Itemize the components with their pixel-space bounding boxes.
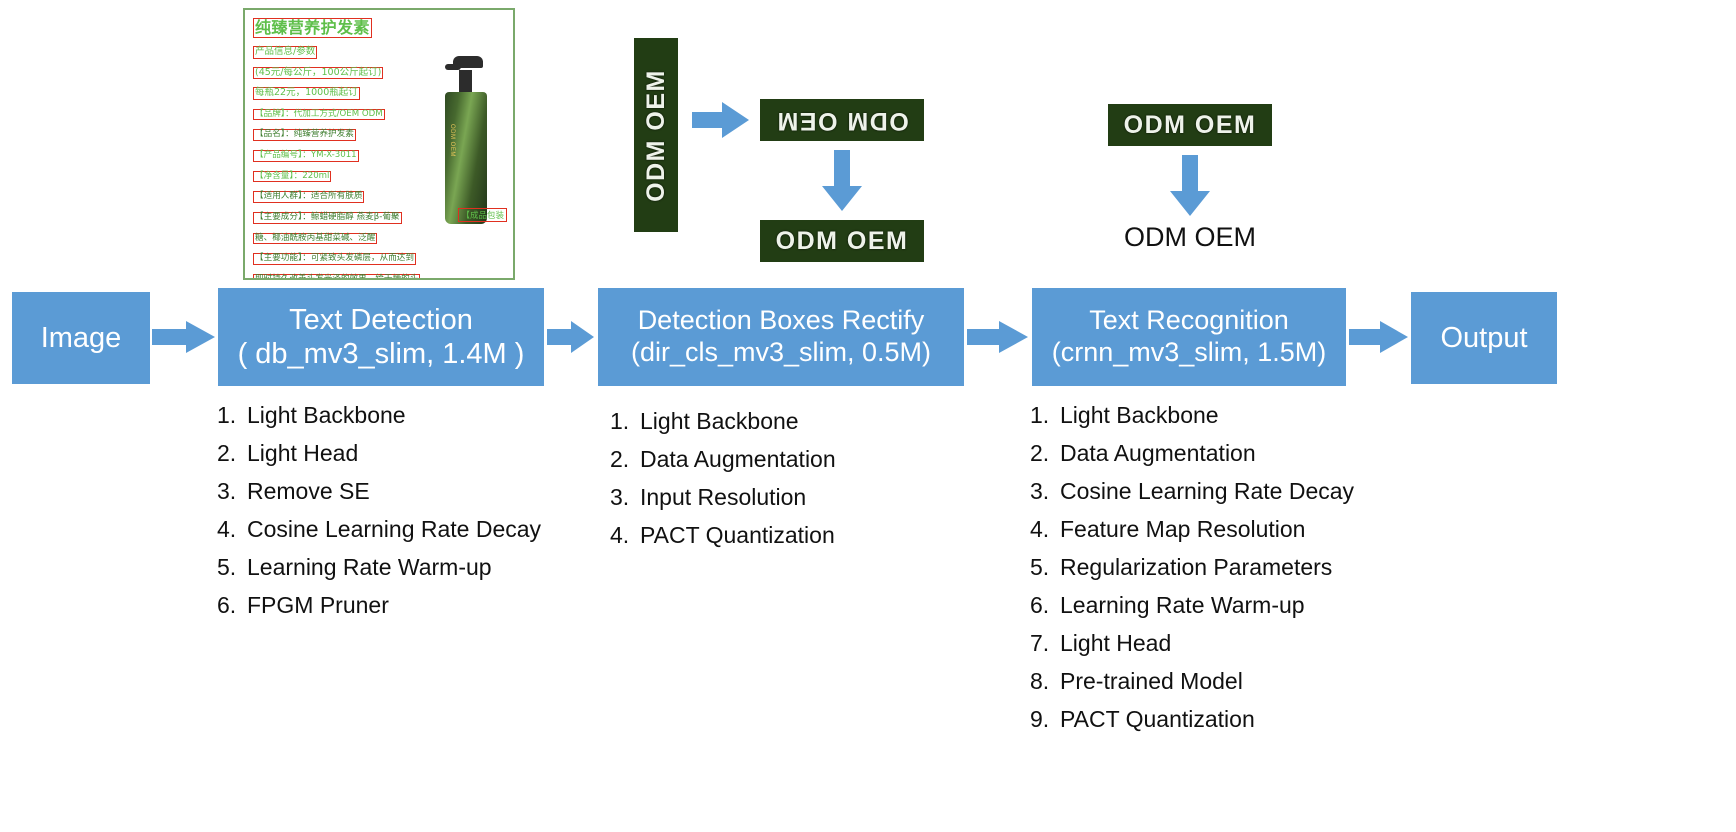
detected-text-box: 糖、椰油酰胺丙基甜菜碱、泛醒 [253, 233, 377, 245]
list-item: 2.Data Augmentation [1030, 442, 1354, 480]
upside-down-text-crop: ODM OEM [760, 99, 924, 141]
recognition-strategy-list: 1.Light Backbone 2.Data Augmentation 3.C… [1030, 404, 1354, 746]
list-item-label: PACT Quantization [640, 524, 835, 547]
rectify-strategy-list: 1.Light Backbone 2.Data Augmentation 3.I… [610, 410, 836, 562]
list-item-number: 1. [1030, 404, 1060, 427]
detected-text-box: 【品名】：纯臻营养护发素 [253, 129, 356, 141]
list-item-label: Input Resolution [640, 486, 806, 509]
list-item: 2.Data Augmentation [610, 448, 836, 486]
pipeline-box-text-detection-title: Text Detection [289, 303, 473, 337]
arrow-down-icon [1169, 155, 1211, 217]
upside-down-text-crop-label: ODM OEM [776, 106, 909, 135]
rectified-text-crop-label: ODM OEM [776, 227, 909, 256]
list-item-number: 3. [217, 480, 247, 503]
pipeline-box-detection-boxes-rectify-title: Detection Boxes Rectify [638, 305, 925, 337]
arrow-right-icon [692, 100, 750, 140]
rotated-text-crop-label: ODM OEM [642, 69, 671, 202]
list-item: 3.Remove SE [217, 480, 541, 518]
bottle-body [445, 92, 487, 224]
pipeline-box-output-title: Output [1440, 321, 1527, 355]
list-item: 4.PACT Quantization [610, 524, 836, 562]
list-item-label: Light Head [247, 442, 358, 465]
detected-text-box: 【成品包装 [458, 208, 507, 222]
pipeline-box-detection-boxes-rectify-subtitle: (dir_cls_mv3_slim, 0.5M) [631, 337, 931, 369]
arrow-right-icon [1349, 320, 1409, 354]
list-item: 4.Feature Map Resolution [1030, 518, 1354, 556]
detected-text-box: 即时持久改善头发光泽的效果，给干燥的头 [253, 274, 420, 280]
pipeline-box-text-recognition-subtitle: (crnn_mv3_slim, 1.5M) [1052, 337, 1327, 369]
detected-text-box: 产品信息/参数 [253, 46, 317, 59]
list-item-label: PACT Quantization [1060, 708, 1255, 731]
detected-text-box: (45元/每公斤，100公斤起订) [253, 67, 383, 80]
list-item-label: Light Backbone [640, 410, 799, 433]
list-item: 4.Cosine Learning Rate Decay [217, 518, 541, 556]
pipeline-box-text-detection[interactable]: Text Detection ( db_mv3_slim, 1.4M ) [218, 288, 544, 386]
list-item-number: 4. [217, 518, 247, 541]
detected-text-box: 【适用人群】：适合所有肤质 [253, 191, 364, 203]
list-item: 3.Input Resolution [610, 486, 836, 524]
list-item-number: 2. [1030, 442, 1060, 465]
arrow-down-icon [821, 150, 863, 212]
recognition-output-text: ODM OEM [1100, 222, 1280, 253]
list-item-label: Cosine Learning Rate Decay [247, 518, 541, 541]
sample-document-image: 纯臻营养护发素 产品信息/参数 (45元/每公斤，100公斤起订) 每瓶22元，… [243, 8, 515, 280]
list-item-label: FPGM Pruner [247, 594, 389, 617]
list-item-label: Light Head [1060, 632, 1171, 655]
list-item: 6.Learning Rate Warm-up [1030, 594, 1354, 632]
detected-text-box: 【净含量】：220ml [253, 171, 331, 183]
list-item-number: 7. [1030, 632, 1060, 655]
list-item-number: 3. [610, 486, 640, 509]
list-item: 2.Light Head [217, 442, 541, 480]
list-item-label: Data Augmentation [1060, 442, 1256, 465]
list-item-number: 8. [1030, 670, 1060, 693]
detected-text-box: 纯臻营养护发素 [253, 18, 372, 38]
detected-text-box: 【品牌】：代加工方式/OEM ODM [253, 109, 385, 121]
recognition-input-crop-label: ODM OEM [1124, 111, 1257, 140]
list-item: 9.PACT Quantization [1030, 708, 1354, 746]
list-item: 6.FPGM Pruner [217, 594, 541, 632]
pipeline-box-image[interactable]: Image [12, 292, 150, 384]
list-item-number: 3. [1030, 480, 1060, 503]
list-item-label: Learning Rate Warm-up [1060, 594, 1305, 617]
list-item: 1.Light Backbone [610, 410, 836, 448]
list-item-number: 1. [610, 410, 640, 433]
list-item-number: 6. [1030, 594, 1060, 617]
rotated-text-crop: ODM OEM [634, 38, 678, 232]
list-item-number: 4. [1030, 518, 1060, 541]
arrow-right-icon [152, 320, 216, 354]
bottle-label-text: ODM OEM [449, 124, 455, 157]
detected-text-box: 【主要功能】：可紧致头发磷层，从而达到 [253, 253, 416, 265]
list-item-number: 6. [217, 594, 247, 617]
list-item-label: Light Backbone [247, 404, 406, 427]
detected-text-box: 每瓶22元，1000瓶起订 [253, 87, 360, 100]
list-item-label: Regularization Parameters [1060, 556, 1332, 579]
list-item-number: 2. [610, 448, 640, 471]
detected-text-box: 【产品编号】：YM-X-3011 [253, 150, 359, 162]
rectified-text-crop: ODM OEM [760, 220, 924, 262]
list-item-number: 2. [217, 442, 247, 465]
recognition-input-crop: ODM OEM [1108, 104, 1272, 146]
list-item-label: Light Backbone [1060, 404, 1219, 427]
pipeline-box-text-recognition-title: Text Recognition [1089, 305, 1289, 337]
list-item-label: Pre-trained Model [1060, 670, 1243, 693]
arrow-right-icon [967, 320, 1029, 354]
detected-text-box: 【主要成分】：鲸蜡硬脂醇 燕麦β-葡聚 [253, 212, 402, 224]
list-item-number: 5. [217, 556, 247, 579]
pipeline-box-detection-boxes-rectify[interactable]: Detection Boxes Rectify (dir_cls_mv3_sli… [598, 288, 964, 386]
list-item: 7.Light Head [1030, 632, 1354, 670]
list-item-number: 4. [610, 524, 640, 547]
list-item: 5.Regularization Parameters [1030, 556, 1354, 594]
list-item: 8.Pre-trained Model [1030, 670, 1354, 708]
detection-strategy-list: 1.Light Backbone 2.Light Head 3.Remove S… [217, 404, 541, 632]
arrow-right-icon [547, 320, 595, 354]
list-item-label: Remove SE [247, 480, 370, 503]
list-item-label: Data Augmentation [640, 448, 836, 471]
pipeline-box-text-recognition[interactable]: Text Recognition (crnn_mv3_slim, 1.5M) [1032, 288, 1346, 386]
list-item-number: 1. [217, 404, 247, 427]
list-item: 1.Light Backbone [1030, 404, 1354, 442]
list-item-label: Feature Map Resolution [1060, 518, 1305, 541]
list-item: 3.Cosine Learning Rate Decay [1030, 480, 1354, 518]
pipeline-box-image-title: Image [41, 321, 122, 355]
document-text-column: 纯臻营养护发素 产品信息/参数 (45元/每公斤，100公斤起订) 每瓶22元，… [253, 18, 439, 280]
pipeline-box-text-detection-subtitle: ( db_mv3_slim, 1.4M ) [238, 337, 525, 371]
list-item-label: Learning Rate Warm-up [247, 556, 492, 579]
pipeline-box-output[interactable]: Output [1411, 292, 1557, 384]
list-item: 1.Light Backbone [217, 404, 541, 442]
list-item-label: Cosine Learning Rate Decay [1060, 480, 1354, 503]
product-bottle-illustration: ODM OEM [431, 40, 499, 225]
list-item-number: 9. [1030, 708, 1060, 731]
list-item-number: 5. [1030, 556, 1060, 579]
list-item: 5.Learning Rate Warm-up [217, 556, 541, 594]
